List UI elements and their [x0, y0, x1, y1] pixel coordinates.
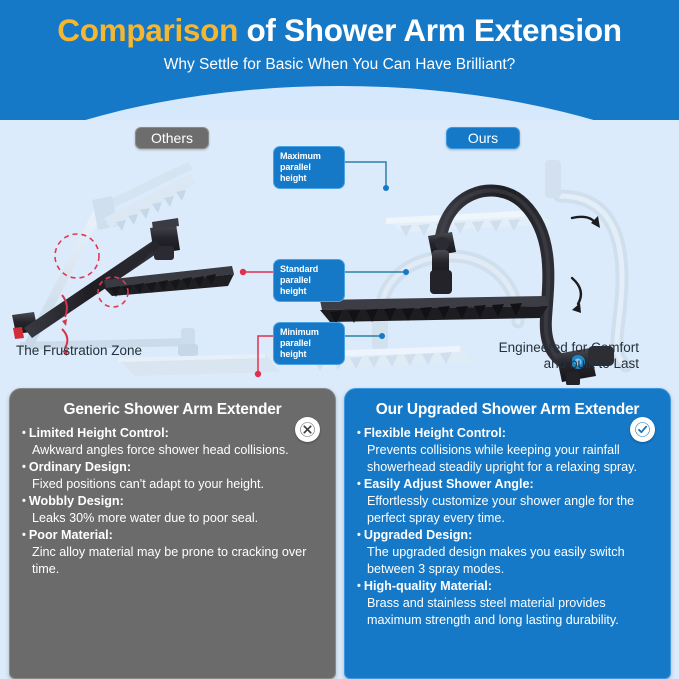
list-item: •Flexible Height Control: Prevents colli… — [357, 425, 658, 476]
bullet-icon: • — [22, 529, 26, 541]
close-icon — [295, 417, 320, 442]
generic-feature-body: Fixed positions can't adapt to your heig… — [22, 476, 323, 493]
upgraded-feature-head: •Flexible Height Control: — [357, 425, 658, 442]
bullet-icon: • — [357, 478, 361, 490]
callout-minimum-parallel-height: Minimum parallel height — [273, 322, 345, 365]
callout-minimum-line2: parallel height — [280, 338, 338, 360]
callout-maximum-line1: Maximum — [280, 151, 338, 162]
list-item: •Poor Material: Zinc alloy material may … — [22, 527, 323, 578]
check-icon-glyph — [635, 422, 650, 437]
header-curve-shape — [0, 86, 679, 120]
list-item: •Limited Height Control: Awkward angles … — [22, 425, 323, 459]
product-illustration: Others Ours Maximum parallel height Stan… — [0, 100, 679, 385]
frustration-zone-caption: The Frustration Zone — [16, 343, 142, 358]
engineered-caption-line1: Engineered for Comfort — [499, 340, 639, 356]
card-upgraded-title: Our Upgraded Shower Arm Extender — [357, 401, 658, 419]
ours-rotation-arrows — [572, 217, 596, 304]
generic-feature-head: •Ordinary Design: — [22, 459, 323, 476]
generic-feature-body: Zinc alloy material may be prone to crac… — [22, 544, 323, 578]
bullet-icon: • — [357, 580, 361, 592]
upgraded-feature-head: •Easily Adjust Shower Angle: — [357, 476, 658, 493]
generic-feature-head: •Wobbly Design: — [22, 493, 323, 510]
list-item: •Upgraded Design: The upgraded design ma… — [357, 527, 658, 578]
page-subtitle: Why Settle for Basic When You Can Have B… — [0, 56, 679, 74]
card-generic-title: Generic Shower Arm Extender — [22, 401, 323, 419]
upgraded-feature-body: Brass and stainless steel material provi… — [357, 595, 658, 629]
label-others: Others — [135, 127, 209, 149]
bullet-icon: • — [22, 427, 26, 439]
close-icon-glyph — [300, 422, 315, 437]
check-icon — [630, 417, 655, 442]
callout-maximum-line2: parallel height — [280, 162, 338, 184]
upgraded-feature-list: •Flexible Height Control: Prevents colli… — [357, 425, 658, 629]
page-title-highlight: Comparison — [57, 12, 238, 48]
callout-maximum-parallel-height: Maximum parallel height — [273, 146, 345, 189]
callout-minimum-line1: Minimum — [280, 327, 338, 338]
bullet-icon: • — [22, 461, 26, 473]
bullet-icon: • — [357, 529, 361, 541]
list-item: •Easily Adjust Shower Angle: Effortlessl… — [357, 476, 658, 527]
label-ours: Ours — [446, 127, 520, 149]
generic-feature-body: Awkward angles force shower head collisi… — [22, 442, 323, 459]
list-item: •Wobbly Design: Leaks 30% more water due… — [22, 493, 323, 527]
callout-standard-parallel-height: Standard parallel height — [273, 259, 345, 302]
infographic-page: Comparison of Shower Arm Extension Why S… — [0, 0, 679, 679]
card-upgraded-shower-arm-extender: Our Upgraded Shower Arm Extender •Flexib… — [344, 388, 671, 679]
bullet-icon: • — [22, 495, 26, 507]
generic-feature-list: •Limited Height Control: Awkward angles … — [22, 425, 323, 578]
callout-standard-line2: parallel height — [280, 275, 338, 297]
upgraded-feature-body: Prevents collisions while keeping your r… — [357, 442, 658, 476]
card-generic-shower-arm-extender: Generic Shower Arm Extender •Limited Hei… — [9, 388, 336, 679]
upgraded-feature-body: Effortlessly customize your shower angle… — [357, 493, 658, 527]
bullet-icon: • — [357, 427, 361, 439]
page-title-rest: of Shower Arm Extension — [238, 12, 622, 48]
engineered-caption: Engineered for Comfort and built to Last — [499, 340, 639, 372]
callout-standard-line1: Standard — [280, 264, 338, 275]
list-item: •High-quality Material: Brass and stainl… — [357, 578, 658, 629]
upgraded-feature-head: •Upgraded Design: — [357, 527, 658, 544]
generic-feature-head: •Poor Material: — [22, 527, 323, 544]
upgraded-feature-body: The upgraded design makes you easily swi… — [357, 544, 658, 578]
comparison-cards: Generic Shower Arm Extender •Limited Hei… — [0, 388, 679, 679]
list-item: •Ordinary Design: Fixed positions can't … — [22, 459, 323, 493]
engineered-caption-line2: and built to Last — [499, 356, 639, 372]
generic-feature-body: Leaks 30% more water due to poor seal. — [22, 510, 323, 527]
upgraded-feature-head: •High-quality Material: — [357, 578, 658, 595]
generic-feature-head: •Limited Height Control: — [22, 425, 323, 442]
header-banner: Comparison of Shower Arm Extension Why S… — [0, 0, 679, 120]
others-dark-arm — [12, 218, 234, 339]
page-title: Comparison of Shower Arm Extension — [0, 12, 679, 49]
